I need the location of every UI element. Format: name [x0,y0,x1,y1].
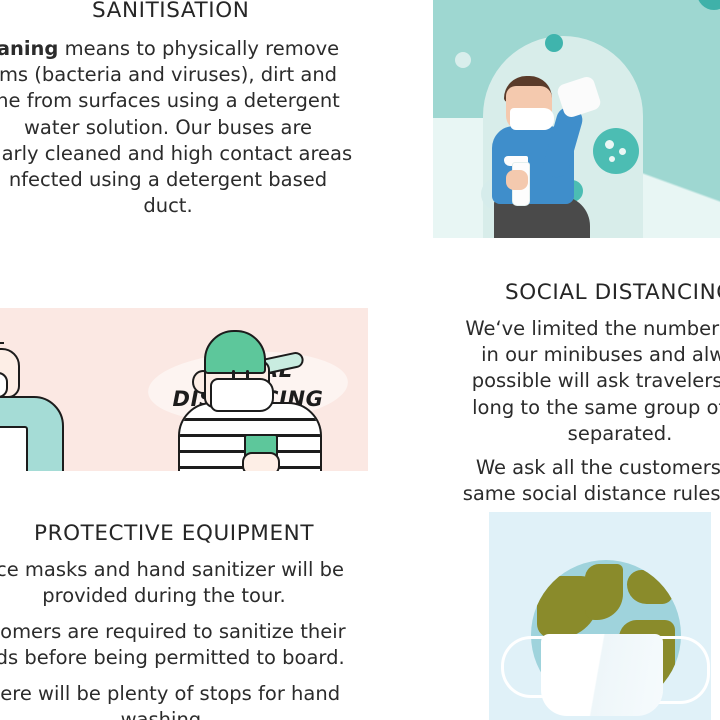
sanitisation-line-3: ne from surfaces using a detergent [0,88,388,114]
sanitisation-line-6: nfected using a detergent based [0,167,388,193]
face-mask-icon [510,108,554,130]
sanitisation-heading: SANITISATION [92,0,249,23]
protective-equipment-paragraph-3: here will be plenty of stops for hand wa… [0,681,384,720]
banner-person-left [0,342,62,471]
face-mask-icon [541,634,663,716]
social-p2-line-2: same social distance rules durin [380,481,720,507]
protective-p1-line-1: ace masks and hand sanitizer will be [0,557,384,583]
person-lower-hand [506,170,528,190]
protective-equipment-heading: PROTECTIVE EQUIPMENT [34,521,314,546]
protective-p3-line-1: here will be plenty of stops for hand [0,681,384,707]
green-cap-icon [204,330,266,374]
virus-dot [619,148,626,155]
sanitisation-line-5: ularly cleaned and high contact areas [0,141,388,167]
social-p2-line-1: We ask all the customers to k [380,455,720,481]
protective-equipment-paragraph-1: ace masks and hand sanitizer will be pro… [0,557,384,609]
social-p1-line-3: possible will ask travelers that [380,368,720,394]
protective-p3-line-2: washing. [0,707,384,720]
illustration-person [488,70,618,238]
sanitisation-line-1-bold: aning [0,37,58,60]
page-root: SANITISATION aning means to physically r… [0,0,720,720]
sanitisation-line-1-rest: means to physically remove [58,37,339,60]
social-distancing-paragraph-2: We ask all the customers to k same socia… [380,455,720,507]
protective-p2-line-1: stomers are required to sanitize their [0,619,384,645]
sanitisation-line-2: ms (bacteria and viruses), dirt and [0,62,388,88]
banner-person-right [188,330,328,471]
virus-icon [697,0,720,10]
sanitisation-line-4: water solution. Our buses are [0,115,388,141]
sanitisation-paragraph: aning means to physically remove ms (bac… [0,36,388,219]
social-p1-line-1: We‘ve limited the number of pa [380,316,720,342]
protective-p2-line-2: nds before being permitted to board. [0,645,384,671]
virus-icon [455,52,471,68]
face-mask-icon [210,378,274,412]
person-left-hair [0,342,4,362]
social-p1-line-5: separated. [380,421,720,447]
shirt-stripe [180,418,320,421]
man-spraying-disinfectant-illustration [433,0,720,238]
two-masked-people-illustration: SOCIAL DISTANCING [0,308,368,471]
social-distancing-paragraph-1: We‘ve limited the number of pa in our mi… [380,316,720,447]
social-p1-line-2: in our minibuses and always [380,342,720,368]
person-left-paper [0,426,28,471]
sanitisation-line-7: duct. [0,193,388,219]
globe-wearing-face-mask-illustration [489,512,711,720]
globe-landmass [585,564,623,620]
sanitisation-line-1: aning means to physically remove [0,36,388,62]
protective-equipment-paragraph-2: stomers are required to sanitize their n… [0,619,384,671]
social-distancing-heading: SOCIAL DISTANCING [505,280,720,305]
protective-p1-line-2: provided during the tour. [0,583,384,609]
social-p1-line-4: long to the same group of peo [380,395,720,421]
globe-landmass [627,570,673,604]
virus-icon [545,34,563,52]
person-right-hand [242,452,280,471]
